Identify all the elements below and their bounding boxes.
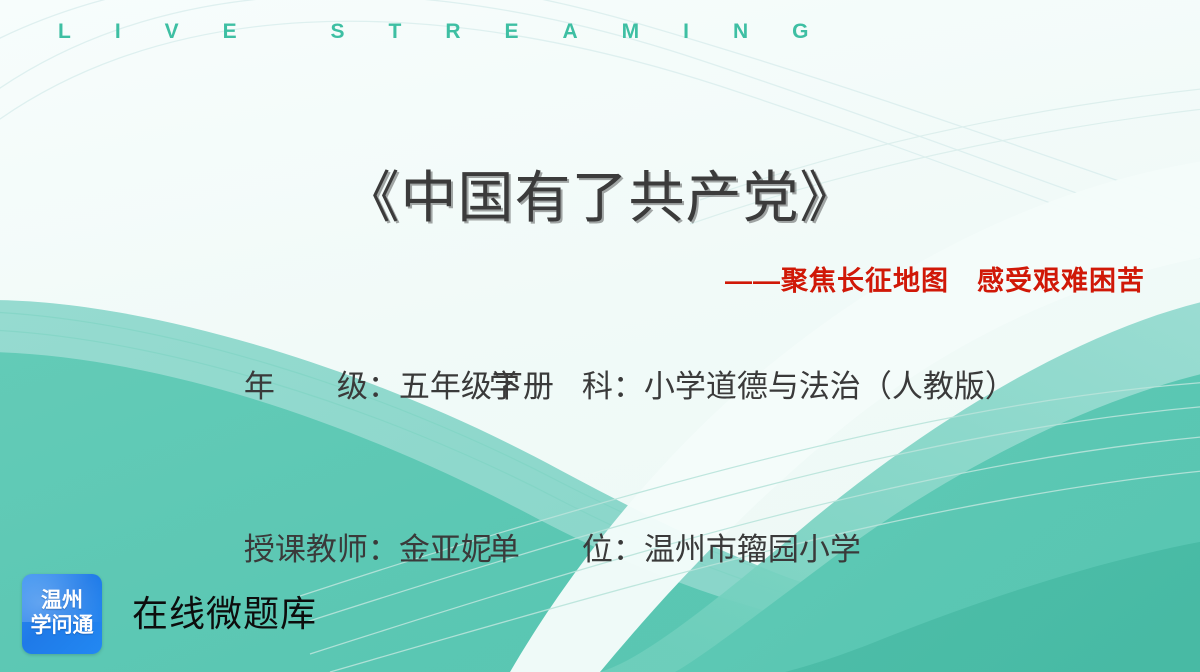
info-row: 年 级：五年级下册 学 科：小学道德与法治（人教版）	[0, 320, 1200, 455]
slide-root: LIVE STREAMING 《中国有了共产党》 ——聚焦长征地图 感受艰难困苦…	[0, 0, 1200, 672]
brand-footer: 温州 学问通 在线微题库	[22, 574, 317, 654]
logo-line-2: 学问通	[31, 615, 94, 638]
subject-label: 学 科：	[489, 369, 644, 404]
info-cell-grade: 年 级：五年级下册	[0, 320, 420, 455]
organization-value: 温州市籀园小学	[644, 532, 861, 567]
logo-line-1: 温州	[41, 590, 83, 613]
course-info-block: 年 级：五年级下册 学 科：小学道德与法治（人教版） 授课教师：金亚妮 单 位：…	[0, 320, 1200, 618]
info-cell-subject: 学 科：小学道德与法治（人教版）	[420, 320, 1200, 455]
organization-label: 单 位：	[489, 532, 644, 567]
teacher-label: 授课教师：	[244, 532, 399, 567]
page-subtitle: ——聚焦长征地图 感受艰难困苦	[0, 265, 1145, 297]
header-band: LIVE STREAMING	[0, 0, 1200, 62]
subtitle-row: ——聚焦长征地图 感受艰难困苦	[0, 265, 1200, 297]
title-block: 《中国有了共产党》	[0, 165, 1200, 231]
grade-label: 年 级：	[244, 369, 399, 404]
wenzhou-xuewentong-logo-icon: 温州 学问通	[22, 574, 102, 654]
page-title: 《中国有了共产党》	[0, 165, 1200, 231]
info-cell-organization: 单 位：温州市籀园小学	[420, 483, 1200, 618]
subject-value: 小学道德与法治（人教版）	[644, 369, 1016, 404]
live-streaming-label: LIVE STREAMING	[58, 21, 853, 42]
brand-name: 在线微题库	[132, 596, 317, 632]
